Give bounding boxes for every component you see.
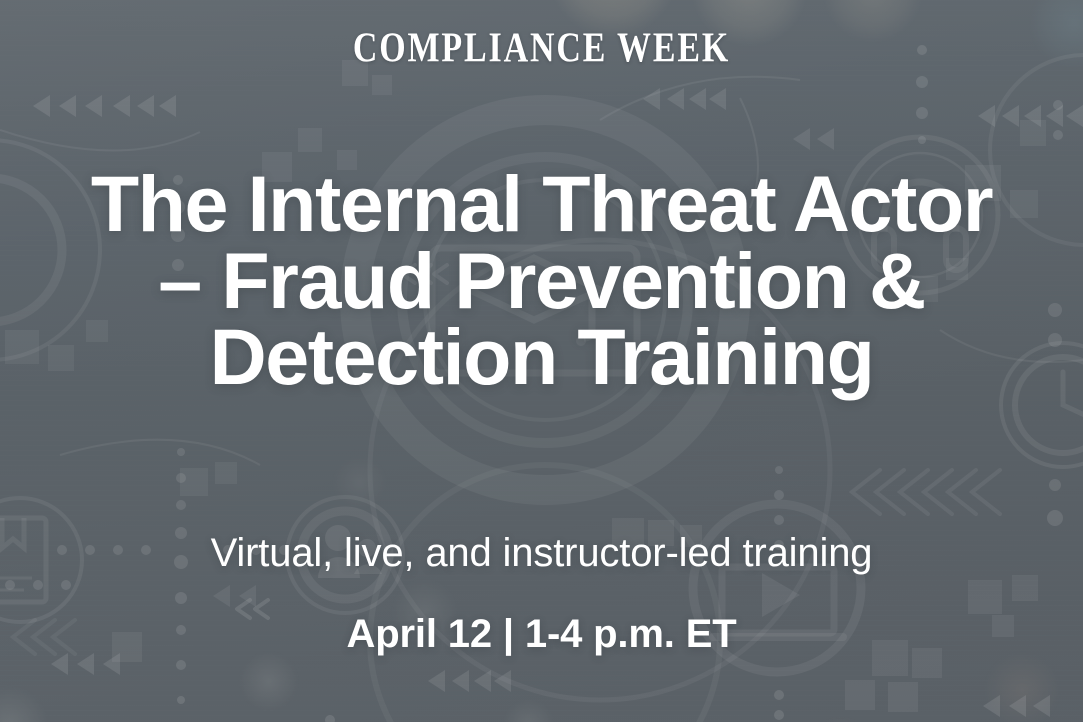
event-dateline: April 12 | 1-4 p.m. ET (0, 612, 1083, 656)
event-format-subtitle: Virtual, live, and instructor-led traini… (0, 531, 1083, 575)
page-title: The Internal Threat Actor – Fraud Preven… (0, 166, 1083, 396)
page-title-line-1: The Internal Threat Actor (16, 166, 1067, 243)
compliance-week-logo: COMPLIANCE WEEK (353, 26, 730, 69)
page-title-line-3: Detection Training (16, 319, 1067, 396)
page-title-line-2: – Fraud Prevention & (16, 243, 1067, 320)
promo-banner: COMPLIANCE WEEK The Internal Threat Acto… (0, 0, 1083, 722)
banner-content: COMPLIANCE WEEK The Internal Threat Acto… (0, 0, 1083, 722)
